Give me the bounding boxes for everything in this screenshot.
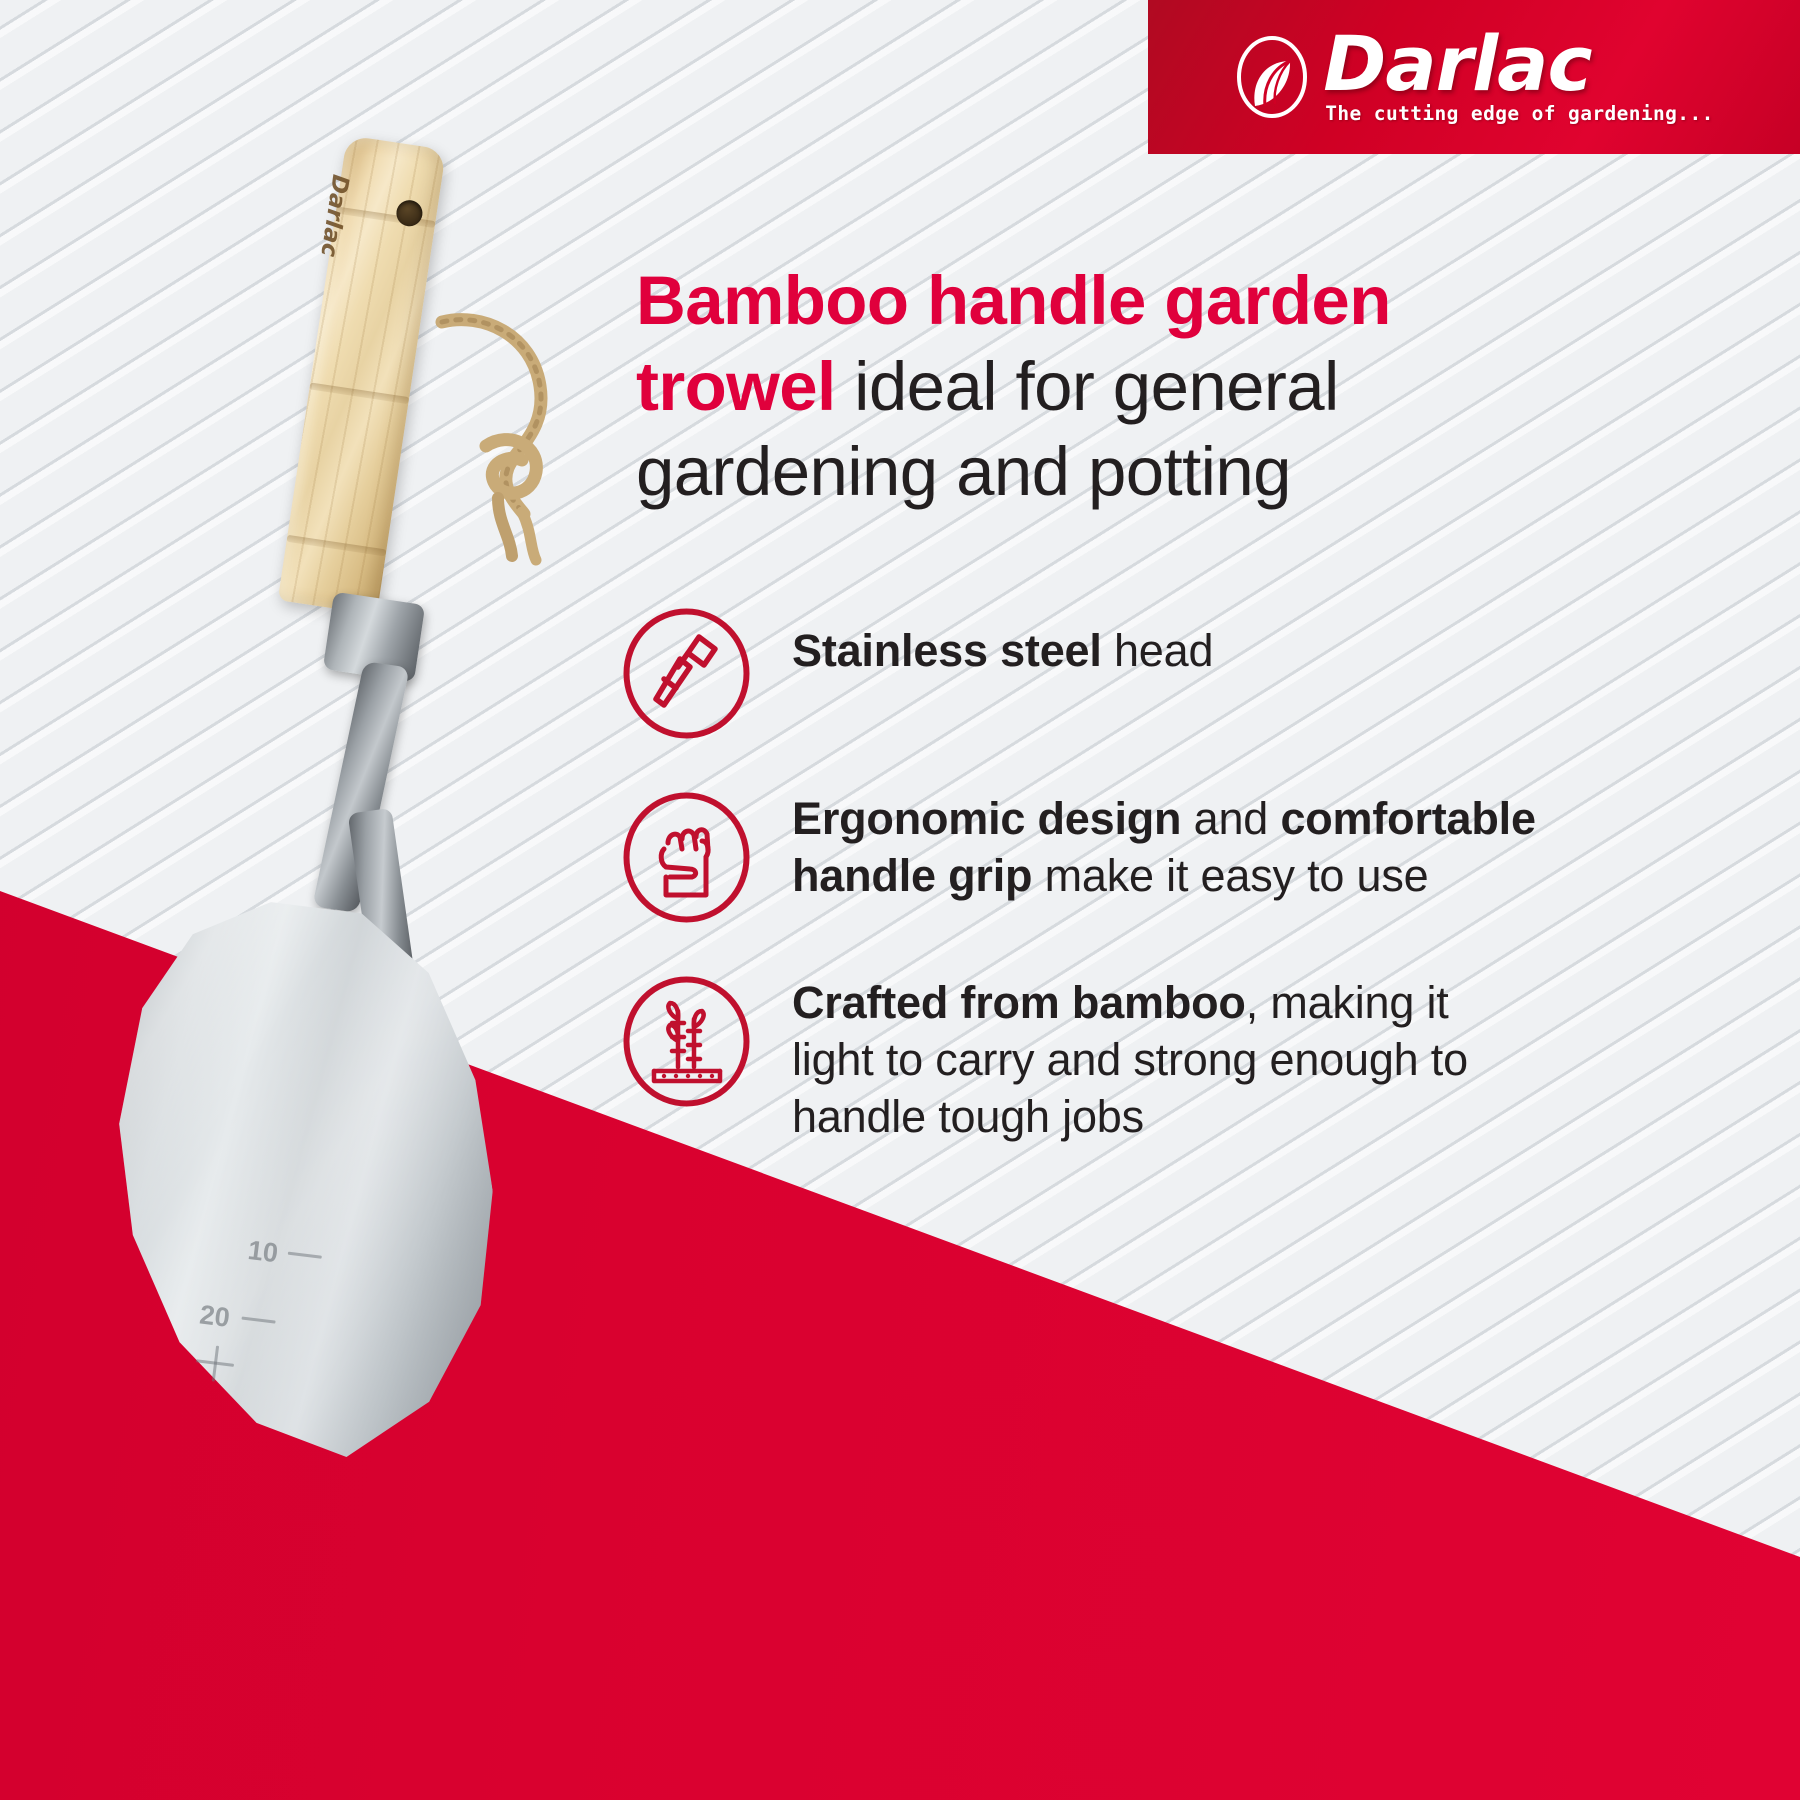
feature-mid: and <box>1181 793 1280 844</box>
list-item: Stainless steel head <box>620 604 1540 740</box>
trowel-blade: 10 20 <box>87 880 522 1481</box>
feature-bold: Crafted from bamboo <box>792 977 1246 1028</box>
feature-rest: head <box>1102 625 1214 676</box>
feature-rest: make it easy to use <box>1032 850 1428 901</box>
blade-mark-10: 10 <box>246 1235 280 1269</box>
feature-text: Stainless steel head <box>792 604 1213 679</box>
rope-loop-icon <box>390 260 620 580</box>
product-image-trowel: Darlac 10 20 <box>60 110 620 1430</box>
feature-text: Crafted from bamboo, making it light to … <box>792 972 1540 1145</box>
leaf-oval-icon <box>1235 34 1309 120</box>
blade-mark-20: 20 <box>198 1299 232 1333</box>
page-title: Bamboo handle garden trowel ideal for ge… <box>636 258 1436 515</box>
blade-tick <box>288 1252 322 1259</box>
poster-canvas: Darlac 10 20 <box>0 0 1800 1800</box>
list-item: Crafted from bamboo, making it light to … <box>620 972 1540 1145</box>
brand-logo[interactable]: Darlac The cutting edge of gardening... <box>1148 0 1800 154</box>
brand-name: Darlac <box>1323 29 1591 99</box>
feature-bold: Stainless steel <box>792 625 1102 676</box>
bamboo-plant-icon <box>620 975 753 1108</box>
blade-measurement-marks: 10 20 <box>163 1227 355 1436</box>
hammer-icon <box>620 607 753 740</box>
brand-tagline: The cutting edge of gardening... <box>1325 102 1713 125</box>
fist-grip-icon <box>620 791 753 924</box>
feature-text: Ergonomic design and comfortable handle … <box>792 788 1540 904</box>
feature-list: Stainless steel head <box>620 604 1540 1193</box>
feature-bold: Ergonomic design <box>792 793 1181 844</box>
blade-tick <box>242 1317 276 1324</box>
list-item: Ergonomic design and comfortable handle … <box>620 788 1540 924</box>
